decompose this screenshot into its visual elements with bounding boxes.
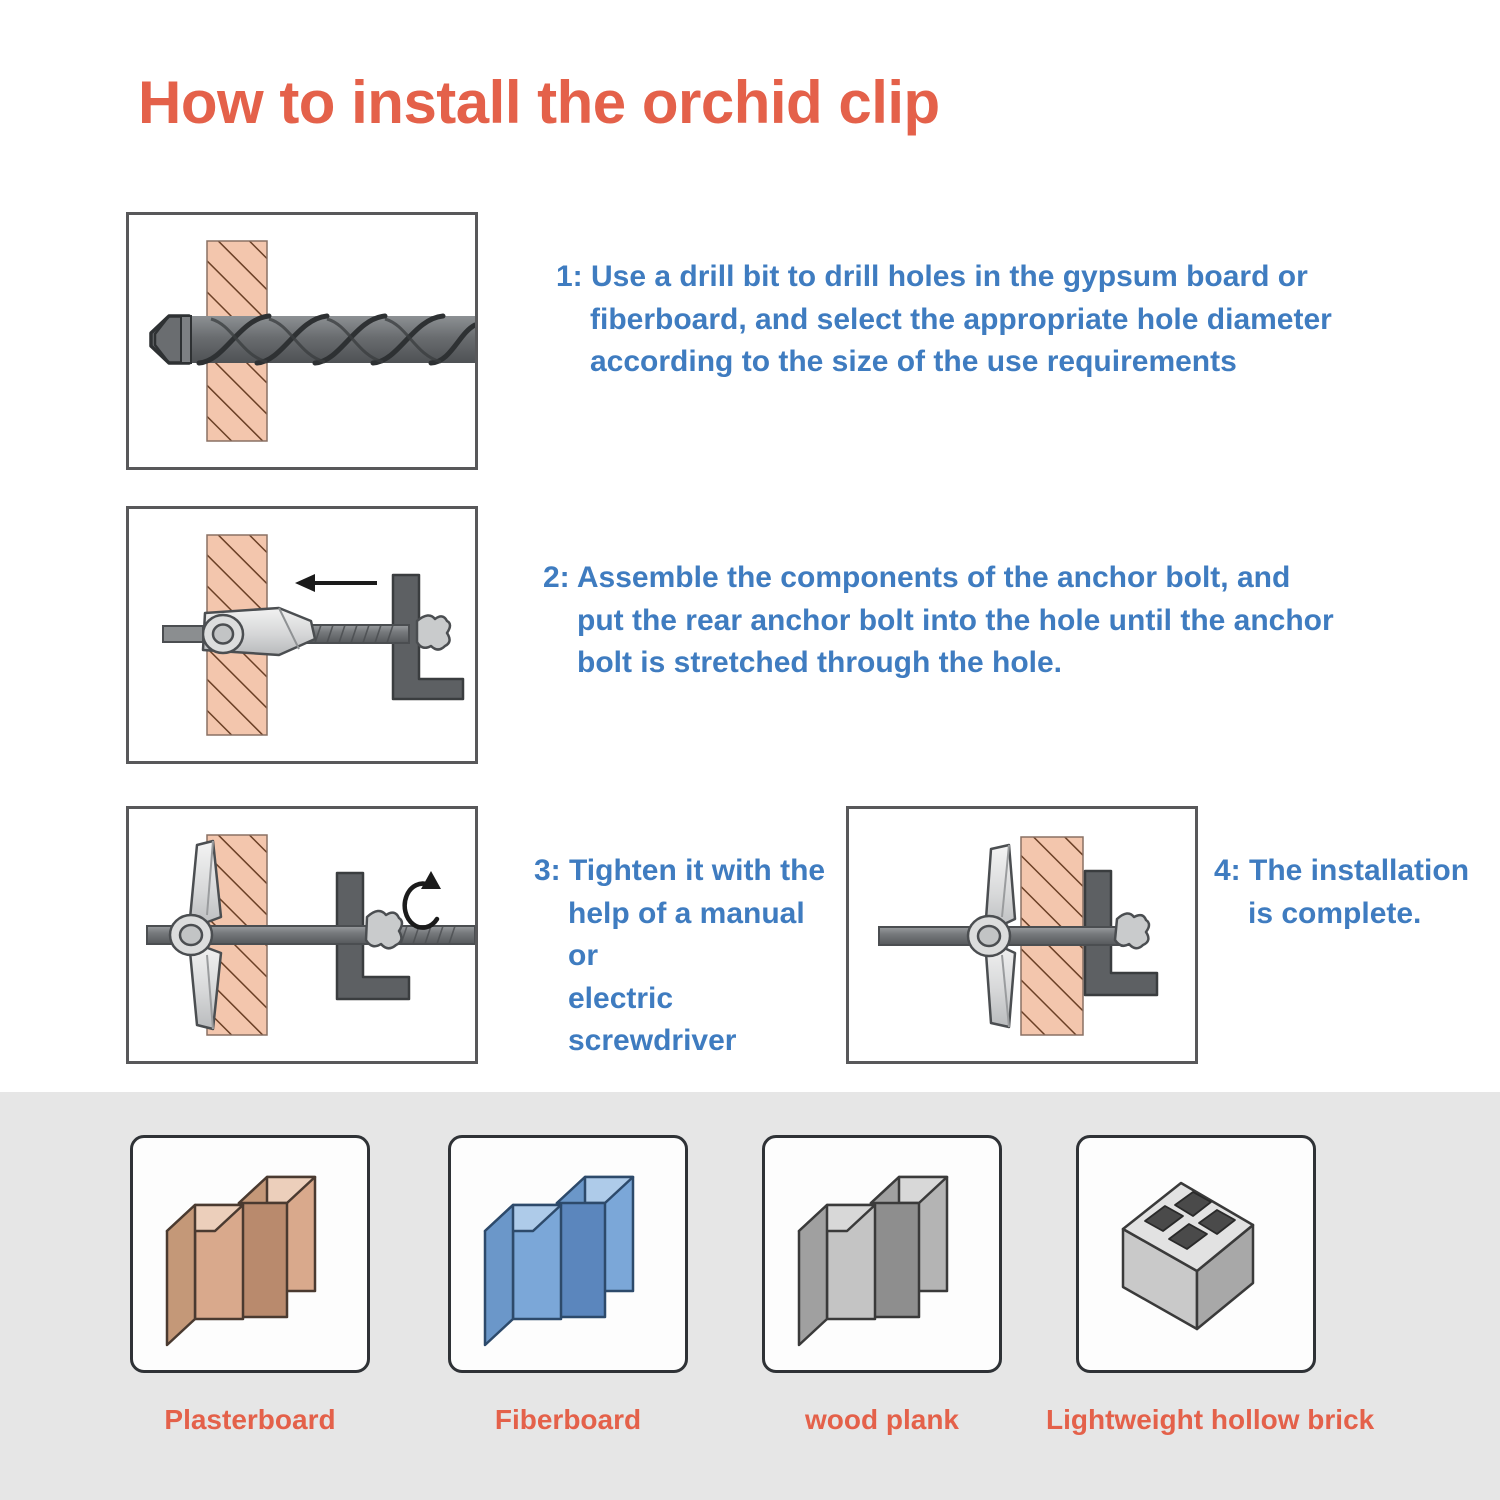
step-2-line-2: put the rear anchor bolt into the hole u… bbox=[543, 600, 1343, 643]
page-title: How to install the orchid clip bbox=[138, 68, 940, 137]
left-arrow-icon bbox=[295, 574, 377, 592]
material-label-wood-plank: wood plank bbox=[732, 1404, 1032, 1436]
drill-bit-through-wall-icon bbox=[129, 215, 475, 467]
material-card-lightweight-hollow-brick[interactable] bbox=[1076, 1135, 1316, 1373]
material-label-fiberboard: Fiberboard bbox=[418, 1404, 718, 1436]
step-2-line-1: 2: Assemble the components of the anchor… bbox=[543, 557, 1343, 600]
step-3-illustration-panel bbox=[126, 806, 478, 1064]
step-4-line-1: 4: The installation bbox=[1214, 850, 1484, 893]
step-1-text: 1: Use a drill bit to drill holes in the… bbox=[556, 256, 1346, 384]
step-4-text: 4: The installation is complete. bbox=[1214, 850, 1484, 935]
step-3-line-3: electric screwdriver bbox=[534, 978, 834, 1063]
twin-panel-block-icon bbox=[155, 1159, 345, 1349]
twin-panel-block-icon bbox=[787, 1159, 977, 1349]
material-card-fiberboard[interactable] bbox=[448, 1135, 688, 1373]
rotation-arrow-icon bbox=[405, 871, 441, 928]
material-card-plasterboard[interactable] bbox=[130, 1135, 370, 1373]
step-1-line-1: 1: Use a drill bit to drill holes in the… bbox=[556, 256, 1346, 299]
material-label-plasterboard: Plasterboard bbox=[100, 1404, 400, 1436]
step-2-text: 2: Assemble the components of the anchor… bbox=[543, 557, 1343, 685]
step-3-line-2: help of a manual or bbox=[534, 893, 834, 978]
material-card-wood-plank[interactable] bbox=[762, 1135, 1002, 1373]
step-1-illustration-panel bbox=[126, 212, 478, 470]
step-1-line-3: according to the size of the use require… bbox=[556, 341, 1346, 384]
materials-band: Plasterboard Fiberboard bbox=[0, 1092, 1500, 1500]
toggle-wings-open-icon bbox=[129, 809, 475, 1061]
step-2-line-3: bolt is stretched through the hole. bbox=[543, 642, 1343, 685]
twin-panel-block-icon bbox=[473, 1159, 663, 1349]
step-4-illustration-panel bbox=[846, 806, 1198, 1064]
installation-complete-icon bbox=[849, 809, 1195, 1061]
material-label-lightweight-hollow-brick: Lightweight hollow brick bbox=[1046, 1404, 1346, 1436]
step-2-illustration-panel bbox=[126, 506, 478, 764]
step-4-line-2: is complete. bbox=[1214, 893, 1484, 936]
step-3-text: 3: Tighten it with the help of a manual … bbox=[534, 850, 834, 1063]
hollow-brick-block-icon bbox=[1101, 1159, 1291, 1349]
toggle-bolt-inserted-icon bbox=[129, 509, 475, 761]
step-3-line-1: 3: Tighten it with the bbox=[534, 850, 834, 893]
step-1-line-2: fiberboard, and select the appropriate h… bbox=[556, 299, 1346, 342]
